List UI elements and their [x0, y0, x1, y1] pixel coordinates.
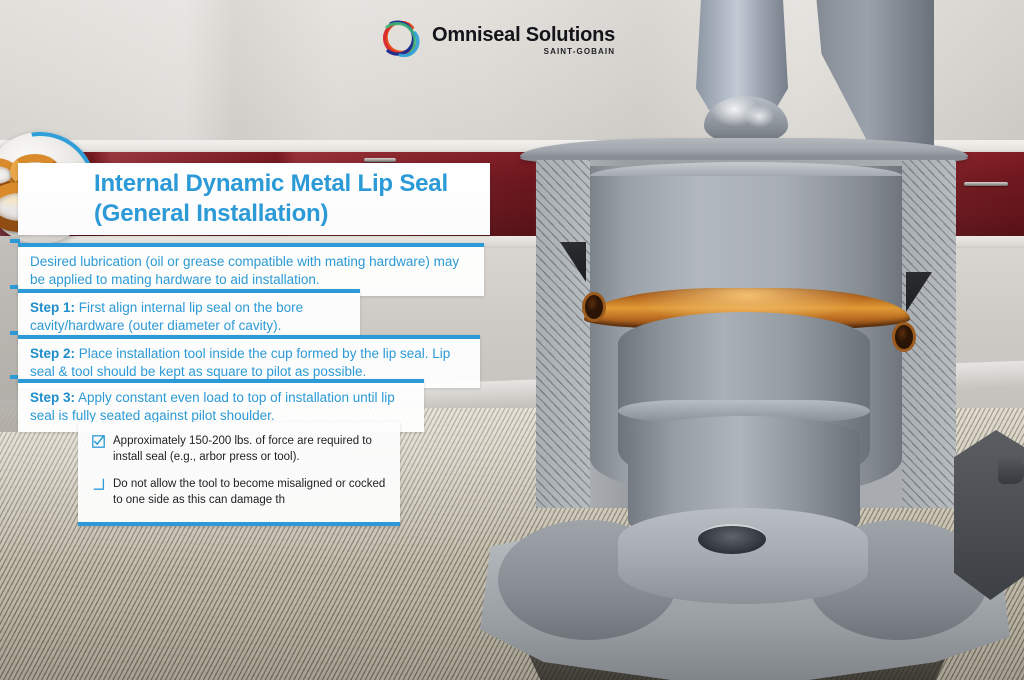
note-item: Approximately 150-200 lbs. of force are … [92, 434, 388, 465]
base-bore-hole [698, 524, 766, 554]
step-label: Step 3: [30, 390, 75, 405]
cabinet-handle-icon [364, 158, 396, 162]
title-card: Internal Dynamic Metal Lip Seal (General… [18, 163, 490, 235]
note-text: Approximately 150-200 lbs. of force are … [113, 434, 388, 465]
instruction-text: Step 3: Apply constant even load to top … [30, 389, 414, 425]
lip-seal-section-end-left [582, 292, 606, 322]
omniseal-swirl-icon [378, 18, 422, 62]
machine-side-block [954, 430, 1024, 600]
base-center-pad [618, 508, 868, 604]
checkbox-checked-icon [92, 435, 105, 448]
brand-name: Omniseal Solutions [432, 25, 615, 45]
brand-parent: SAINT-GOBAIN [432, 48, 615, 56]
section-hatching-left [536, 160, 590, 508]
press-ram-shaft [696, 0, 788, 110]
product-render [468, 0, 1024, 680]
page-title: Internal Dynamic Metal Lip Seal (General… [94, 169, 494, 229]
step-label: Step 2: [30, 346, 75, 361]
press-arm [786, 0, 934, 150]
instruction-text: Step 2: Place installation tool inside t… [30, 345, 470, 381]
screenshot-canvas: Omniseal Solutions SAINT-GOBAIN Internal… [0, 0, 1024, 680]
notes-panel: Approximately 150-200 lbs. of force are … [78, 422, 400, 526]
checkbox-partial-icon [92, 478, 105, 491]
step-label: Step 1: [30, 300, 75, 315]
note-item: Do not allow the tool to become misalign… [92, 477, 388, 508]
instruction-text: Desired lubrication (oil or grease compa… [30, 253, 474, 289]
brand-wordmark: Omniseal Solutions SAINT-GOBAIN [432, 25, 615, 56]
note-text: Do not allow the tool to become misalign… [113, 477, 388, 508]
lip-seal-section-end-right [892, 322, 916, 352]
brand-logo: Omniseal Solutions SAINT-GOBAIN [378, 18, 615, 62]
machine-adjust-knob [998, 458, 1024, 484]
instruction-text: Step 1: First align internal lip seal on… [30, 299, 350, 335]
